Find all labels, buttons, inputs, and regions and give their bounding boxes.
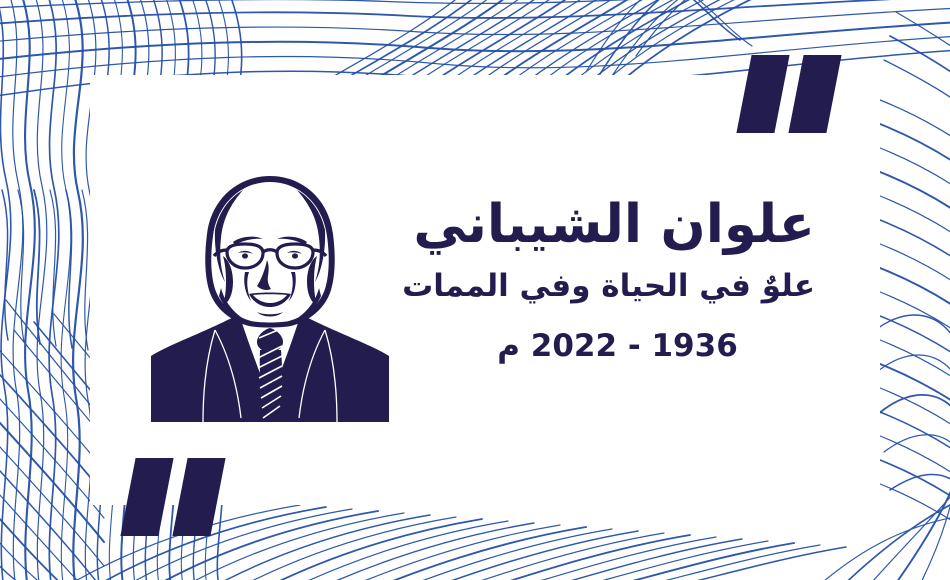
quote-mark-icon-top-right: [744, 55, 844, 135]
poster-canvas: علوان الشيباني علوٌ في الحياة وفي الممات…: [0, 0, 950, 580]
memorial-text-block: علوان الشيباني علوٌ في الحياة وفي الممات…: [420, 195, 815, 365]
quote-bar: [120, 458, 173, 536]
quote-bar: [788, 55, 841, 133]
memorial-name: علوان الشيباني: [420, 195, 815, 254]
quote-mark-icon-bottom-left: [128, 458, 228, 538]
memorial-dates: 1936 - 2022 م: [420, 328, 815, 365]
memorial-tagline: علوٌ في الحياة وفي الممات: [420, 268, 815, 305]
portrait-illustration: [145, 160, 395, 425]
quote-bar: [172, 458, 225, 536]
quote-bar: [736, 55, 789, 133]
